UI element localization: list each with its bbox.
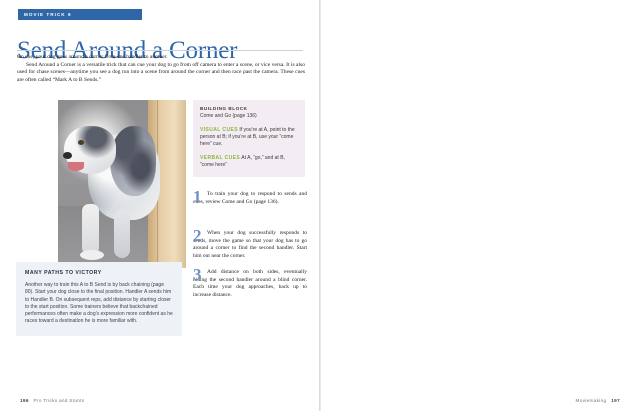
numbered-steps-list: 1 To train your dog to respond to sends … bbox=[193, 191, 307, 308]
step-item: 3 Add distance on both sides, eventually… bbox=[193, 269, 307, 299]
running-head-left: Pro Tricks and Stunts bbox=[34, 398, 85, 403]
visual-cues-label: VISUAL CUES bbox=[200, 127, 238, 133]
photo-dog-eye bbox=[78, 140, 84, 145]
left-page: MOVIE TRICK 6 Send Around a Corner On cu… bbox=[0, 0, 320, 411]
verbal-cues-entry: VERBAL CUES At A, “go,” and at B, “come … bbox=[200, 155, 298, 169]
building-block-subtitle: Come and Go (page 136) bbox=[200, 113, 298, 120]
many-paths-to-victory-panel: MANY PATHS TO VICTORY Another way to tra… bbox=[16, 262, 182, 336]
step-number: 2 bbox=[193, 228, 202, 244]
step-item: 2 When your dog successfully responds to… bbox=[193, 230, 307, 260]
building-block-panel: BUILDING BLOCK Come and Go (page 136) VI… bbox=[193, 100, 305, 177]
page-number-left: 196 bbox=[20, 398, 29, 403]
verbal-cues-label: VERBAL CUES bbox=[200, 155, 240, 161]
title-divider bbox=[17, 50, 303, 51]
photo-dog-merle-coat bbox=[110, 126, 156, 196]
right-page: PRO TIPS • Save your dog’s highest-drive… bbox=[320, 0, 640, 411]
photo-dog-tongue bbox=[68, 162, 84, 171]
photo-dog-peeking-corner bbox=[58, 100, 186, 268]
step-text: When your dog successfully responds to s… bbox=[193, 230, 307, 260]
visual-cues-entry: VISUAL CUES If you’re at A, point to the… bbox=[200, 127, 298, 148]
step-text: Add distance on both sides, eventually h… bbox=[193, 269, 307, 299]
footer-right: Moviemaking 197 bbox=[576, 398, 620, 403]
building-block-title: BUILDING BLOCK bbox=[200, 106, 298, 111]
running-head-right: Moviemaking bbox=[576, 398, 607, 403]
page-number-right: 197 bbox=[611, 398, 620, 403]
photo-dog-nose bbox=[63, 152, 72, 159]
many-paths-title: MANY PATHS TO VICTORY bbox=[25, 270, 173, 276]
step-number: 3 bbox=[193, 267, 202, 283]
footer-left: 196 Pro Tricks and Stunts bbox=[20, 398, 84, 403]
intro-body: Send Around a Corner is a versatile tric… bbox=[17, 62, 305, 85]
photo-dog-paw bbox=[80, 250, 104, 260]
intro-lead: On cue, your dog goes around a corner fr… bbox=[17, 54, 305, 62]
chapter-kicker-badge: MOVIE TRICK 6 bbox=[18, 9, 142, 20]
book-spread: MOVIE TRICK 6 Send Around a Corner On cu… bbox=[0, 0, 640, 411]
photo-dog-front-leg bbox=[82, 204, 99, 256]
step-text: To train your dog to respond to sends an… bbox=[193, 191, 307, 206]
step-item: 1 To train your dog to respond to sends … bbox=[193, 191, 307, 221]
photo-dog-rear-leg bbox=[114, 210, 130, 258]
kicker-label: MOVIE TRICK 6 bbox=[24, 12, 72, 17]
intro-text-block: On cue, your dog goes around a corner fr… bbox=[17, 54, 305, 84]
step-number: 1 bbox=[193, 189, 202, 205]
many-paths-text: Another way to train this A to B Send is… bbox=[25, 282, 173, 326]
